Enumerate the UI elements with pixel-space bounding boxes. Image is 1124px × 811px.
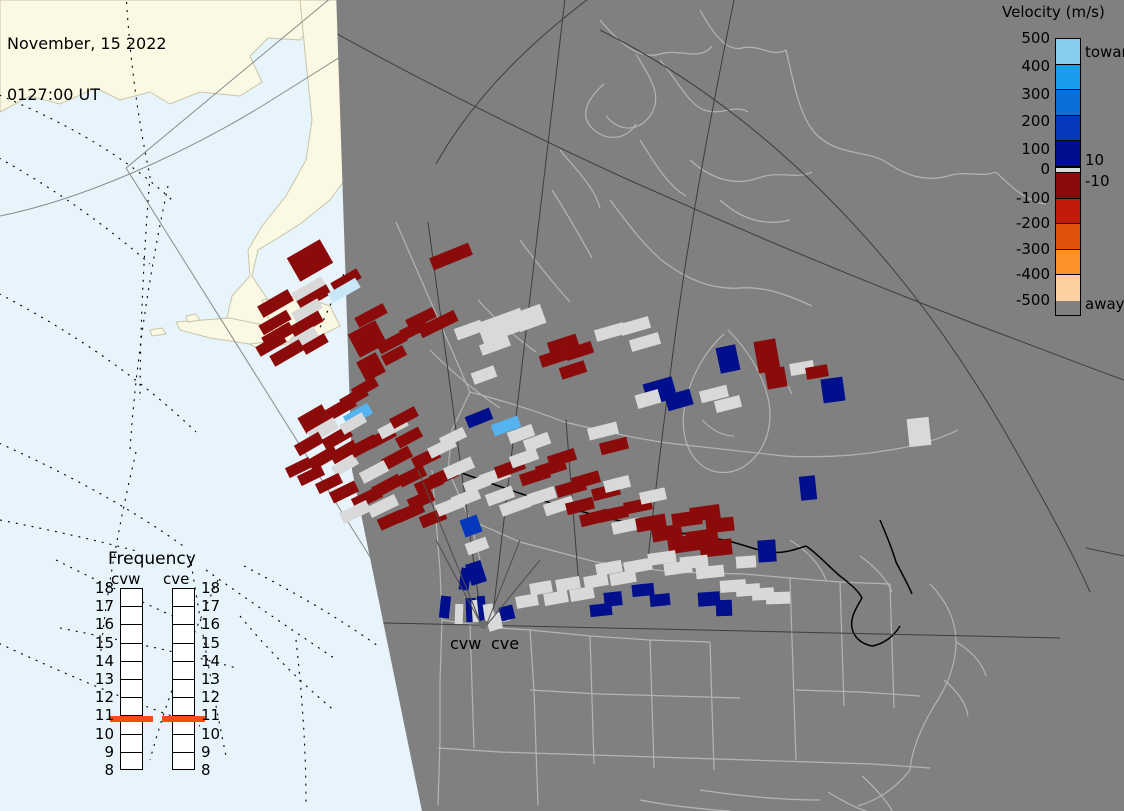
colorbar-away-label: away [1085, 295, 1124, 313]
colorbar-tick-400: 400 [998, 57, 1050, 75]
colorbar-tick-500: 500 [998, 29, 1050, 47]
frequency-tick-cell [173, 644, 194, 662]
colorbar-segment-toward-3 [1056, 116, 1080, 142]
frequency-legend-title: Frequency [108, 549, 196, 569]
velocity-colorbar[interactable] [1055, 38, 1081, 316]
velocity-cell[interactable] [649, 593, 670, 607]
frequency-axis-label-9: 9 [201, 743, 223, 761]
frequency-tick-cell [121, 607, 142, 625]
time-label: 0127:00 UT [7, 86, 167, 103]
radar-origin-dot [479, 620, 488, 629]
frequency-axis-label-15: 15 [201, 634, 223, 652]
frequency-tick-cell [121, 680, 142, 698]
frequency-bar-cve[interactable] [172, 588, 195, 770]
colorbar-tick--100: -100 [998, 189, 1050, 207]
velocity-cell[interactable] [705, 517, 734, 534]
frequency-tick-cell [173, 698, 194, 716]
frequency-axis-label-17: 17 [201, 597, 223, 615]
radar-map-view: November, 15 2022 0127:00 UT Velocity (m… [0, 0, 1124, 811]
velocity-cell[interactable] [764, 366, 787, 389]
frequency-tick-cell [121, 662, 142, 680]
frequency-tick-cell [121, 589, 142, 607]
colorbar-gs-lower-label: -10 [1085, 172, 1110, 190]
frequency-marker-cve [162, 716, 205, 722]
colorbar-title: Velocity (m/s) [1002, 3, 1105, 21]
colorbar-tick--400: -400 [998, 265, 1050, 283]
frequency-axis-label-8: 8 [201, 761, 223, 779]
velocity-cell[interactable] [799, 475, 817, 501]
velocity-cell[interactable] [455, 604, 464, 624]
radar-site-label-cvw: cvw [450, 634, 481, 653]
colorbar-tick-100: 100 [998, 140, 1050, 158]
colorbar-toward-label: toward [1085, 43, 1124, 61]
colorbar-tick-300: 300 [998, 85, 1050, 103]
frequency-tick-cell [173, 662, 194, 680]
frequency-tick-cell [121, 644, 142, 662]
frequency-axis-label-18: 18 [201, 579, 223, 597]
velocity-cell[interactable] [736, 555, 757, 568]
colorbar-tick--500: -500 [998, 291, 1050, 309]
radar-site-label-cve: cve [491, 634, 519, 653]
date-label: November, 15 2022 [7, 35, 167, 52]
colorbar-segment-toward-4 [1056, 141, 1080, 167]
frequency-axis-label-14: 14 [92, 652, 114, 670]
timestamp-block: November, 15 2022 0127:00 UT [7, 1, 167, 137]
frequency-axis-label-12: 12 [92, 688, 114, 706]
colorbar-gs-upper-label: 10 [1085, 151, 1104, 169]
frequency-tick-cell [121, 625, 142, 643]
frequency-tick-cell [173, 753, 194, 771]
frequency-axis-label-16: 16 [92, 615, 114, 633]
frequency-tick-cell [173, 607, 194, 625]
frequency-tick-cell [173, 625, 194, 643]
frequency-axis-label-12: 12 [201, 688, 223, 706]
frequency-tick-cell [121, 735, 142, 753]
frequency-tick-cell [173, 589, 194, 607]
frequency-axis-label-15: 15 [92, 634, 114, 652]
frequency-axis-label-10: 10 [92, 725, 114, 743]
frequency-column-header-cve: cve [163, 570, 189, 588]
frequency-tick-cell [173, 680, 194, 698]
frequency-column-header-cvw: cvw [111, 570, 140, 588]
frequency-axis-label-8: 8 [92, 761, 114, 779]
frequency-tick-cell [173, 735, 194, 753]
frequency-axis-label-18: 18 [92, 579, 114, 597]
frequency-bar-cvw[interactable] [120, 588, 143, 770]
frequency-axis-label-10: 10 [201, 725, 223, 743]
velocity-cell[interactable] [907, 417, 932, 447]
frequency-axis-label-13: 13 [201, 670, 223, 688]
frequency-axis-label-13: 13 [92, 670, 114, 688]
frequency-axis-label-11: 11 [92, 706, 114, 724]
colorbar-tick--200: -200 [998, 214, 1050, 232]
colorbar-segment-away-4 [1056, 275, 1080, 301]
velocity-cell[interactable] [766, 592, 790, 605]
frequency-axis-label-9: 9 [92, 743, 114, 761]
colorbar-segment-toward-2 [1056, 90, 1080, 116]
frequency-axis-label-11: 11 [201, 706, 223, 724]
velocity-cell[interactable] [603, 591, 622, 607]
frequency-tick-cell [121, 698, 142, 716]
map-canvas[interactable] [0, 0, 1124, 811]
frequency-axis-label-16: 16 [201, 615, 223, 633]
colorbar-segment-away-1 [1056, 199, 1080, 225]
velocity-cell[interactable] [757, 539, 776, 562]
colorbar-segment-toward-1 [1056, 65, 1080, 91]
frequency-tick-cell [121, 753, 142, 771]
colorbar-tick-200: 200 [998, 112, 1050, 130]
colorbar-tick--300: -300 [998, 240, 1050, 258]
colorbar-tick-0: 0 [998, 160, 1050, 178]
colorbar-segment-toward-0 [1056, 39, 1080, 65]
velocity-cell[interactable] [820, 377, 845, 404]
velocity-cell[interactable] [699, 538, 732, 557]
colorbar-segment-away-2 [1056, 224, 1080, 250]
velocity-cell[interactable] [716, 600, 733, 617]
colorbar-segment-away-3 [1056, 250, 1080, 276]
colorbar-segment-away-0 [1056, 173, 1080, 199]
frequency-axis-label-17: 17 [92, 597, 114, 615]
frequency-axis-label-14: 14 [201, 652, 223, 670]
frequency-marker-cvw [110, 716, 153, 722]
